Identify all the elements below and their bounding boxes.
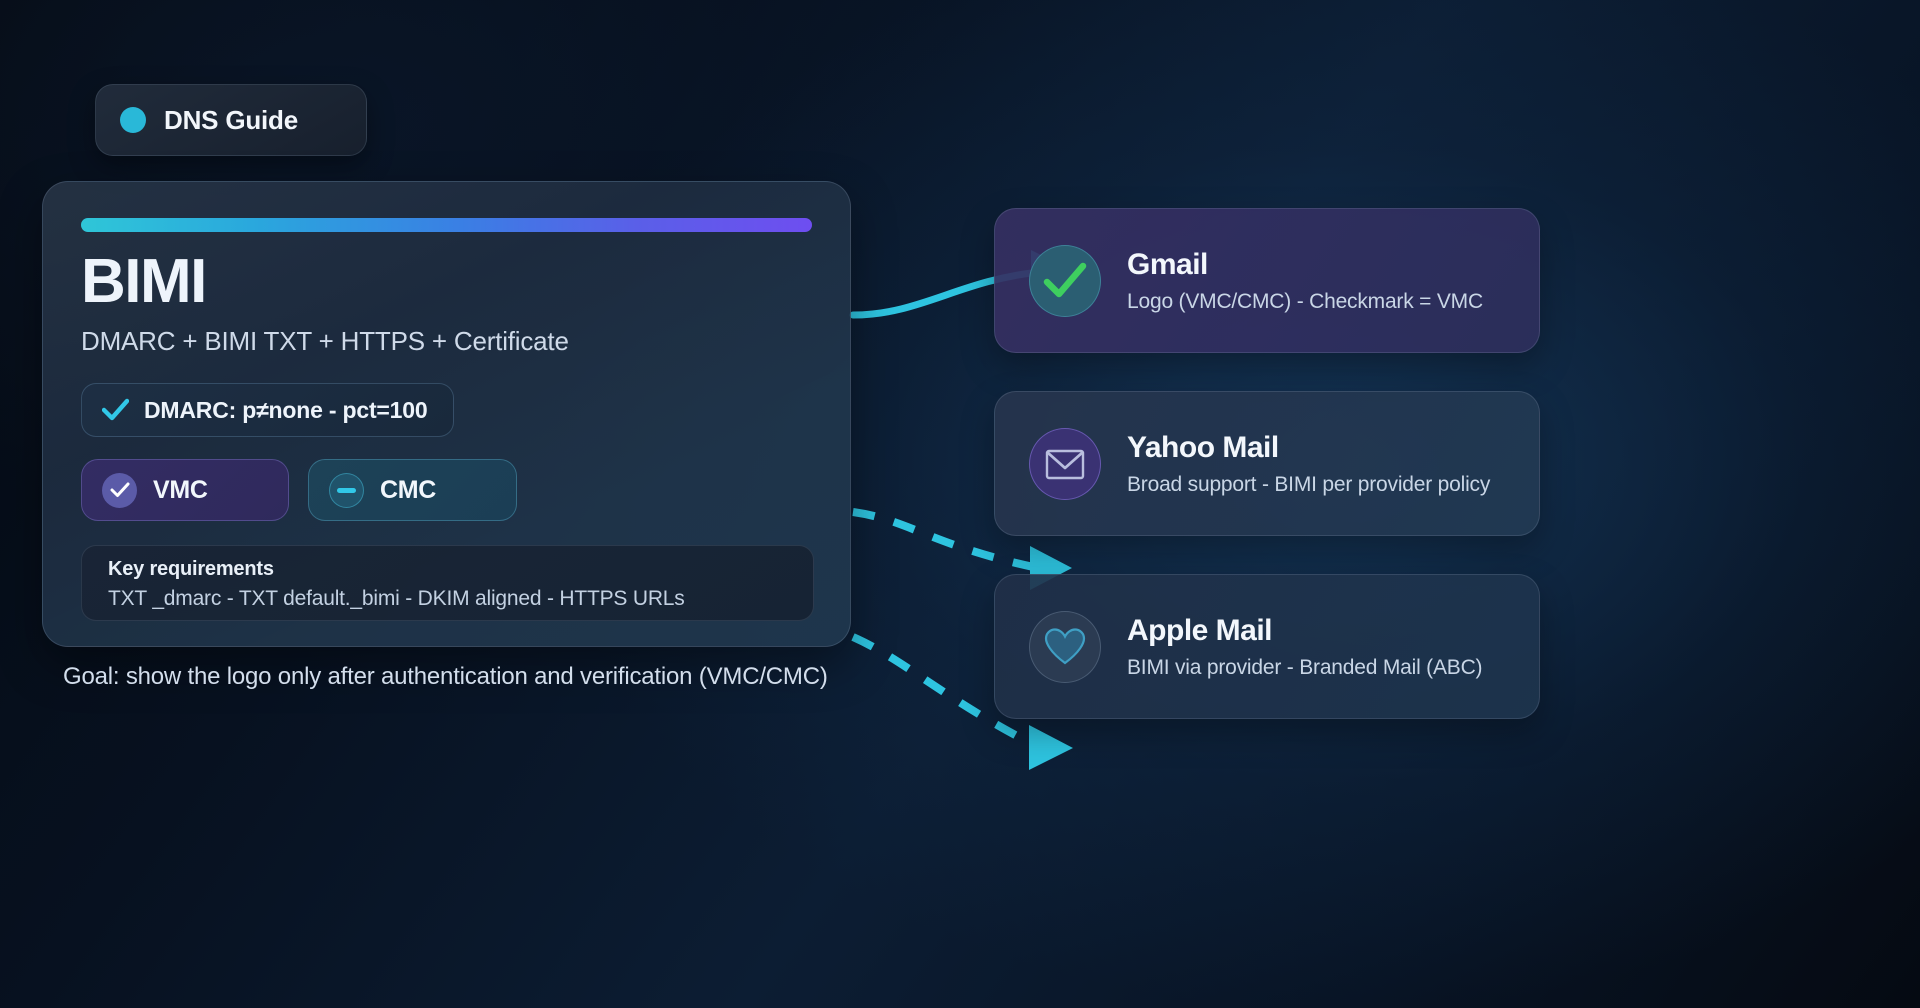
- provider-name: Yahoo Mail: [1127, 431, 1490, 465]
- provider-name: Gmail: [1127, 248, 1483, 282]
- dmarc-chip-label: DMARC: p≠none - pct=100: [144, 397, 427, 424]
- key-requirements-text: TXT _dmarc - TXT default._bimi - DKIM al…: [108, 587, 787, 611]
- provider-name: Apple Mail: [1127, 614, 1482, 648]
- certificate-pill-row: VMC CMC: [81, 459, 812, 521]
- provider-text-block: Gmail Logo (VMC/CMC) - Checkmark = VMC: [1127, 248, 1483, 314]
- dot-icon: [120, 107, 146, 133]
- provider-card-gmail[interactable]: Gmail Logo (VMC/CMC) - Checkmark = VMC: [994, 208, 1540, 353]
- card-subtitle: DMARC + BIMI TXT + HTTPS + Certificate: [81, 326, 812, 357]
- diagram-canvas: DNS Guide BIMI DMARC + BIMI TXT + HTTPS …: [0, 0, 1920, 1008]
- provider-description: Logo (VMC/CMC) - Checkmark = VMC: [1127, 290, 1483, 314]
- provider-description: Broad support - BIMI per provider policy: [1127, 473, 1490, 497]
- provider-description: BIMI via provider - Branded Mail (ABC): [1127, 656, 1482, 680]
- key-requirements-heading: Key requirements: [108, 558, 787, 581]
- provider-card-apple[interactable]: Apple Mail BIMI via provider - Branded M…: [994, 574, 1540, 719]
- vmc-pill-label: VMC: [153, 476, 208, 505]
- key-requirements-box: Key requirements TXT _dmarc - TXT defaul…: [81, 545, 814, 621]
- provider-text-block: Apple Mail BIMI via provider - Branded M…: [1127, 614, 1482, 680]
- accent-gradient-bar: [81, 218, 812, 232]
- bimi-card: BIMI DMARC + BIMI TXT + HTTPS + Certific…: [42, 181, 851, 647]
- check-icon: [102, 398, 129, 422]
- minus-circle-icon: [329, 473, 364, 508]
- cmc-pill[interactable]: CMC: [308, 459, 517, 521]
- vmc-pill[interactable]: VMC: [81, 459, 289, 521]
- provider-text-block: Yahoo Mail Broad support - BIMI per prov…: [1127, 431, 1490, 497]
- arrowhead-apple: [1029, 725, 1073, 770]
- green-check-icon: [1029, 245, 1101, 317]
- goal-caption: Goal: show the logo only after authentic…: [63, 663, 828, 691]
- dmarc-status-chip[interactable]: DMARC: p≠none - pct=100: [81, 383, 454, 437]
- envelope-icon: [1029, 428, 1101, 500]
- page-title: BIMI: [81, 251, 812, 312]
- badge-label: DNS Guide: [164, 105, 298, 136]
- check-circle-icon: [102, 473, 137, 508]
- dns-guide-badge[interactable]: DNS Guide: [95, 84, 367, 156]
- provider-card-yahoo[interactable]: Yahoo Mail Broad support - BIMI per prov…: [994, 391, 1540, 536]
- heart-icon: [1029, 611, 1101, 683]
- cmc-pill-label: CMC: [380, 476, 436, 505]
